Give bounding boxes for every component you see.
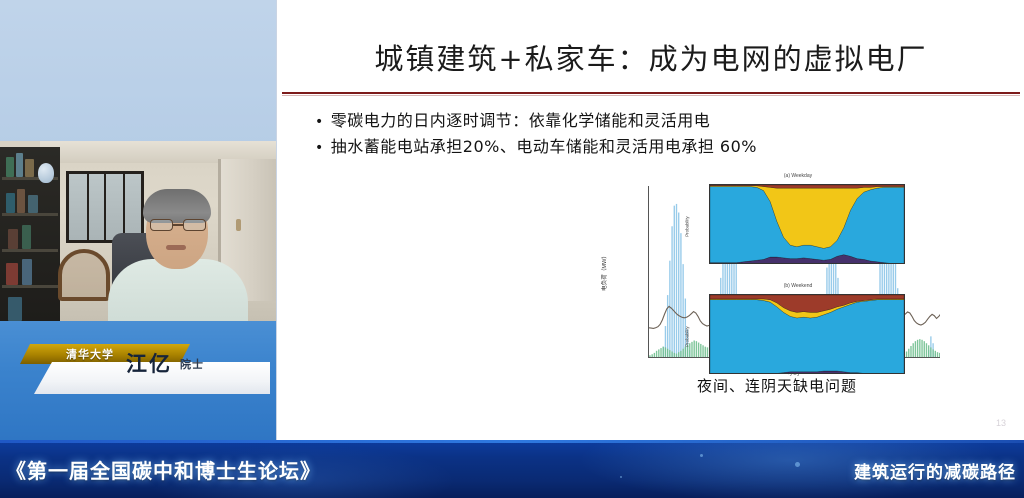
presentation-slide: 城镇建筑+私家车：成为电网的虚拟电厂 • 零碳电力的日内逐时调节：依靠化学储能和… (276, 0, 1024, 440)
decorative-vase (38, 163, 54, 183)
chart-series-canvas (710, 295, 904, 374)
nameplate-speaker-title: 院士 (180, 356, 204, 372)
talk-title: 建筑运行的减碳路径 (854, 458, 1016, 483)
list-item: • 抽水蓄能电站承担20%、电动车储能和灵活用电承担 60% (315, 134, 1015, 160)
bullet-dot-icon: • (315, 141, 324, 155)
chart-y-axis-label: Probability (685, 326, 690, 347)
chart-y-tickmark (648, 272, 649, 273)
title-divider-shadow (282, 95, 1020, 96)
chart-y-tickmark (648, 186, 649, 187)
chart-title: (b) Weekend (784, 283, 813, 289)
broadcast-lower-bar: 《第一届全国碳中和博士生论坛》 建筑运行的减碳路径 (0, 440, 1024, 498)
list-item: • 零碳电力的日内逐时调节：依靠化学储能和灵活用电 (315, 108, 1015, 134)
chart-y-tickmark (648, 324, 649, 325)
speaker-hair (143, 189, 211, 223)
chart-weekend-occupancy: (b) Weekend Probability 00.20.40.60.8100… (685, 292, 911, 384)
chart-y-tickmark (648, 306, 649, 307)
slide-number: 13 (996, 418, 1006, 428)
chart-y-tickmark (648, 238, 649, 239)
wooden-chair (58, 249, 110, 301)
video-background (0, 0, 276, 146)
chart-weekday-occupancy: (a) Weekday Probability 00.20.40.60.8100… (685, 182, 911, 274)
chart-y-tickmark (648, 341, 649, 342)
chart-y-axis-label: Probability (685, 216, 690, 237)
chart-y-tickmark (648, 289, 649, 290)
speaker-video-feed (0, 141, 276, 321)
slide-title: 城镇建筑+私家车：成为电网的虚拟电厂 (277, 36, 1024, 78)
bullet-dot-icon: • (315, 115, 324, 129)
glasses-icon (150, 219, 206, 231)
bullet-text: 抽水蓄能电站承担20%、电动车储能和灵活用电承担 60% (331, 134, 757, 160)
forum-title: 《第一届全国碳中和博士生论坛》 (6, 455, 321, 484)
chart-plot-area: 00.20.40.60.8100:0006:0012:0018:0000:00 (709, 184, 905, 264)
door-knob (236, 219, 241, 231)
nameplate-speaker-name: 江亿 (126, 348, 172, 378)
bullet-text: 零碳电力的日内逐时调节：依靠化学储能和灵活用电 (331, 108, 711, 134)
bullet-list: • 零碳电力的日内逐时调节：依靠化学储能和灵活用电 • 抽水蓄能电站承担20%、… (315, 108, 1015, 160)
chart-y-tickmark (648, 220, 649, 221)
chart-y-axis-label: 电负荷（MW） (600, 253, 608, 291)
speaker-nameplate: 清华大学 江亿 院士 (20, 344, 270, 402)
nameplate-affiliation: 清华大学 (66, 346, 114, 362)
chart-title: (a) Weekday (784, 173, 812, 179)
speaker-mouth (166, 245, 186, 250)
chart-plot-area: 00.20.40.60.8100:0006:0012:0018:0000:00 (709, 294, 905, 374)
chart-y-tickmark (648, 203, 649, 204)
video-panel: 清华大学 江亿 院士 (0, 0, 276, 440)
title-divider (282, 92, 1020, 94)
bottom-bar-top-accent (0, 440, 1024, 443)
chart-y-tickmark (648, 255, 649, 256)
chart-series-canvas (710, 185, 904, 264)
screen: 清华大学 江亿 院士 城镇建筑+私家车：成为电网的虚拟电厂 • 零碳电力的日内逐… (0, 0, 1024, 498)
